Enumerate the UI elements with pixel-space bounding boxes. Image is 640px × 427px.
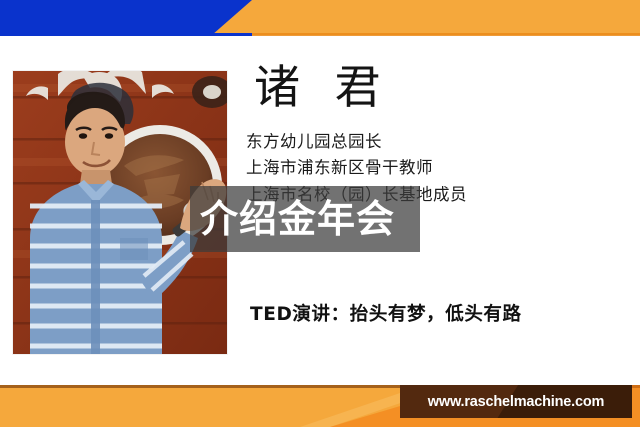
website-url-bar: www.raschelmachine.com: [400, 385, 632, 418]
speaker-credential-3: 上海市名校（园）长基地成员: [246, 182, 636, 209]
website-url-text: www.raschelmachine.com: [428, 394, 604, 410]
top-band-rule-blue: [0, 33, 252, 36]
top-band-graphic: [0, 0, 640, 38]
speaker-name: 诸 君: [254, 62, 636, 113]
speaker-photo-graphic: [12, 70, 228, 355]
speaker-credential-1: 东方幼儿园总园长: [246, 129, 636, 156]
speaker-credential-2: 上海市浦东新区骨干教师: [246, 155, 636, 182]
speaker-photo: [12, 70, 228, 355]
speaker-info-block: 诸 君 东方幼儿园总园长 上海市浦东新区骨干教师 上海市名校（园）长基地成员: [246, 62, 636, 209]
top-band-orange: [212, 0, 640, 35]
presentation-slide: 诸 君 东方幼儿园总园长 上海市浦东新区骨干教师 上海市名校（园）长基地成员 T…: [0, 0, 640, 427]
speaker-talk-title: TED演讲：抬头有梦，低头有路: [250, 300, 522, 326]
top-decor-band: [0, 0, 640, 38]
